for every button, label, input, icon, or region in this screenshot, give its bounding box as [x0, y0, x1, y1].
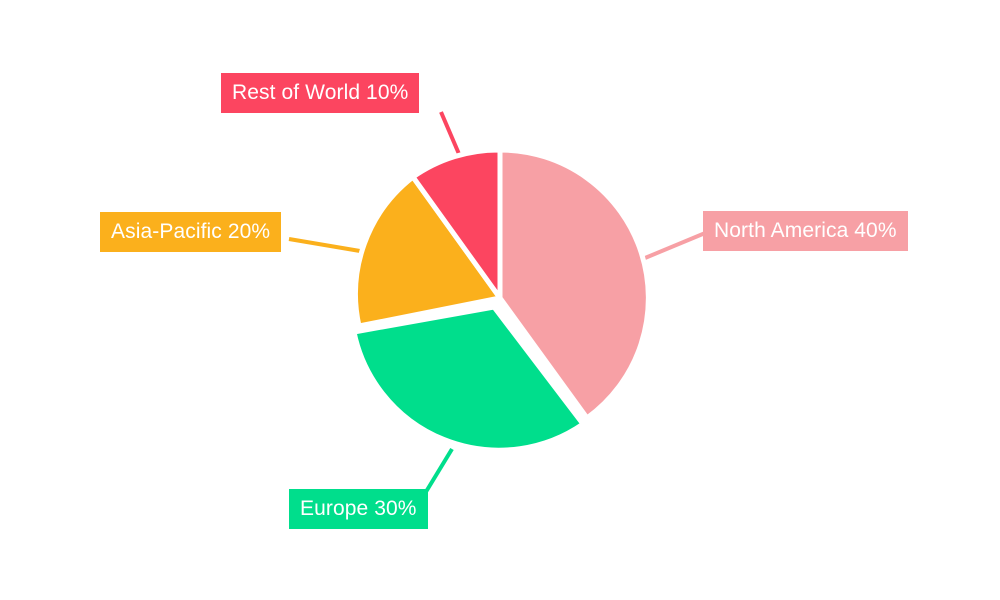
pie-chart-figure: North America 40% Europe 30% Asia-Pacifi… [0, 0, 1000, 600]
pie-label-rest-of-world[interactable]: Rest of World 10% [221, 73, 419, 113]
pie-label-europe[interactable]: Europe 30% [289, 489, 428, 529]
leader-line-asia-pacific [289, 239, 360, 251]
leader-line-north-america [645, 231, 710, 258]
pie-slices [354, 150, 648, 450]
pie-chart-canvas [0, 0, 1000, 600]
pie-label-asia-pacific[interactable]: Asia-Pacific 20% [100, 212, 281, 252]
pie-label-north-america[interactable]: North America 40% [703, 211, 908, 251]
